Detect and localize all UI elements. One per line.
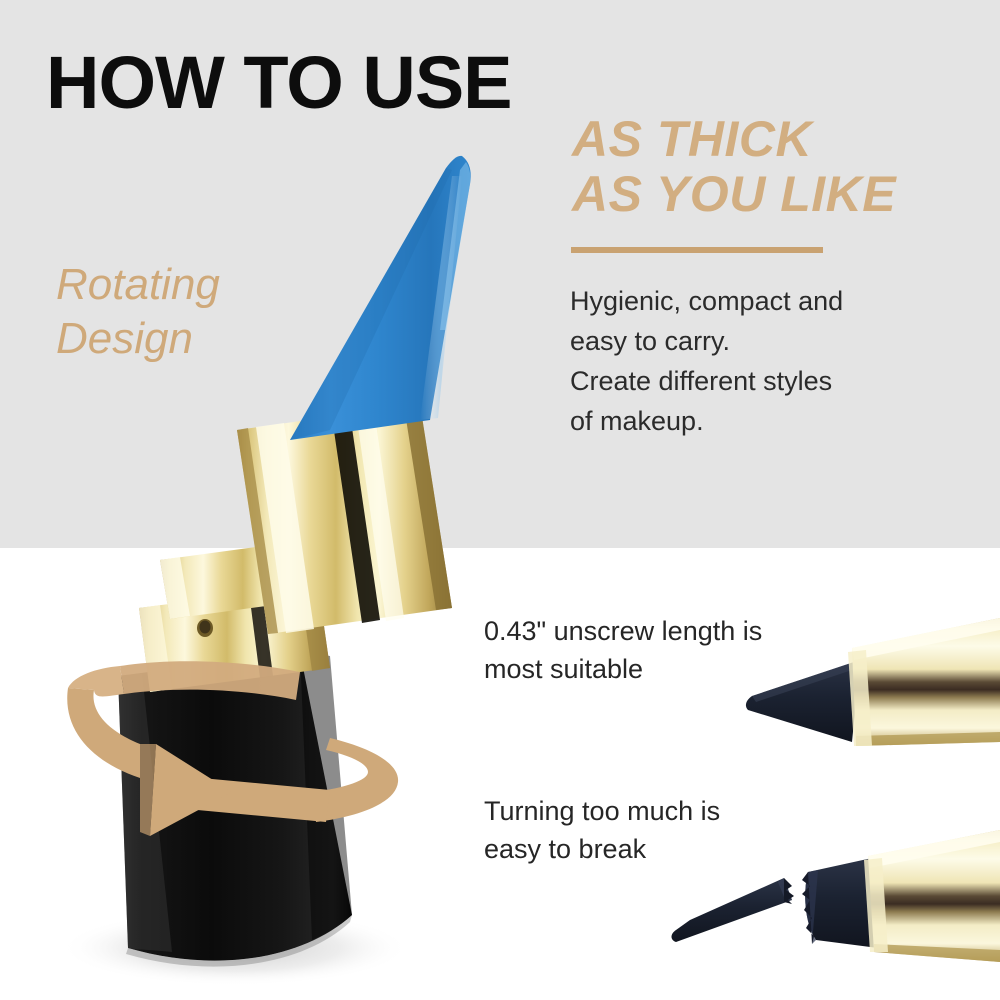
caption-unscrew-length-line-2: most suitable <box>484 650 844 688</box>
feature-headline: AS THICK AS YOU LIKE <box>572 112 992 222</box>
caption-turning-break-line-1: Turning too much is <box>484 792 844 830</box>
feature-description-line-2: easy to carry. <box>570 322 970 362</box>
rotating-design-line-1: Rotating <box>56 258 356 312</box>
infographic-canvas: HOW TO USE Rotating Design AS THICK AS Y… <box>0 0 1000 1000</box>
feature-headline-line-2: AS YOU LIKE <box>572 167 992 222</box>
headline-divider <box>571 247 823 253</box>
caption-turning-break-line-2: easy to break <box>484 830 844 868</box>
caption-turning-break: Turning too much is easy to break <box>484 792 844 869</box>
feature-description: Hygienic, compact and easy to carry. Cre… <box>570 282 970 442</box>
page-title: HOW TO USE <box>46 46 512 120</box>
caption-unscrew-length-line-1: 0.43" unscrew length is <box>484 612 844 650</box>
caption-unscrew-length: 0.43" unscrew length is most suitable <box>484 612 844 689</box>
feature-description-line-3: Create different styles <box>570 362 970 402</box>
rotating-design-label: Rotating Design <box>56 258 356 365</box>
rotating-design-line-2: Design <box>56 312 356 366</box>
feature-description-line-4: of makeup. <box>570 402 970 442</box>
feature-description-line-1: Hygienic, compact and <box>570 282 970 322</box>
feature-headline-line-1: AS THICK <box>572 112 992 167</box>
